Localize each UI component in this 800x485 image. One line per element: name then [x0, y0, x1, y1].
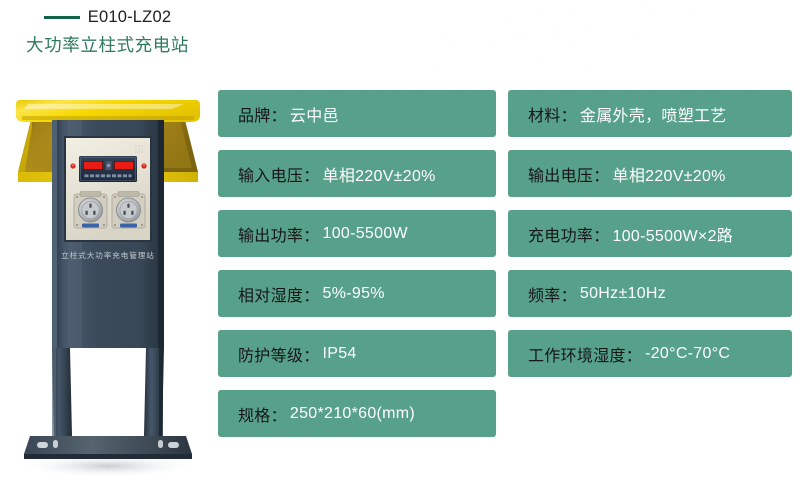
spec-grid: 品牌： 云中邑 材料： 金属外壳，喷塑工艺 输入电压： 单相220V±20% 输… — [218, 90, 792, 450]
spec-value: -20°C-70°C — [645, 345, 730, 363]
spec-value: 金属外壳，喷塑工艺 — [580, 102, 727, 126]
spec-card-output-power: 输出功率： 100-5500W — [218, 210, 496, 257]
base-plate — [24, 436, 192, 459]
spec-row: 品牌： 云中邑 材料： 金属外壳，喷塑工艺 — [218, 90, 792, 137]
spec-label: 材料： — [528, 102, 577, 126]
spec-row: 输入电压： 单相220V±20% 输出电压： 单相220V±20% — [218, 150, 792, 197]
control-panel — [64, 136, 152, 242]
spec-card-output-voltage: 输出电压： 单相220V±20% — [508, 150, 792, 197]
spec-card-operating-temperature: 工作环境湿度： -20°C-70°C — [508, 330, 792, 377]
vent-grille — [135, 145, 143, 153]
spec-value: 云中邑 — [290, 102, 339, 126]
mounting-slot — [168, 442, 179, 448]
spec-value: IP54 — [323, 345, 357, 363]
spec-value: 单相220V±20% — [323, 162, 436, 186]
charging-socket — [112, 192, 145, 229]
mounting-slot — [53, 440, 58, 448]
support-legs — [52, 348, 164, 436]
product-name: 大功率立柱式充电站 — [0, 32, 215, 57]
spec-label: 品牌： — [238, 102, 287, 126]
mounting-slot — [37, 442, 48, 448]
spec-label: 规格： — [238, 402, 287, 426]
spec-card-placeholder — [508, 390, 792, 437]
column-brand-text: 立柱式大功率充电管理站 — [61, 250, 154, 260]
spec-card-input-voltage: 输入电压： 单相220V±20% — [218, 150, 496, 197]
product-photo: 立柱式大功率充电管理站 — [2, 76, 214, 481]
spec-card-material: 材料： 金属外壳，喷塑工艺 — [508, 90, 792, 137]
spec-label: 工作环境湿度： — [528, 342, 642, 366]
spec-card-brand: 品牌： 云中邑 — [218, 90, 496, 137]
mounting-slot — [158, 440, 163, 448]
spec-card-ip-rating: 防护等级： IP54 — [218, 330, 496, 377]
spec-row: 输出功率： 100-5500W 充电功率： 100-5500W×2路 — [218, 210, 792, 257]
spec-value: 100-5500W — [323, 225, 408, 243]
spec-value: 单相220V±20% — [613, 162, 726, 186]
horizontal-dash-icon — [44, 16, 80, 19]
spec-card-charging-power: 充电功率： 100-5500W×2路 — [508, 210, 792, 257]
model-row: E010-LZ02 — [0, 6, 215, 28]
title-block: E010-LZ02 大功率立柱式充电站 — [0, 6, 215, 57]
spec-label: 相对湿度： — [238, 282, 320, 306]
spec-card-relative-humidity: 相对湿度： 5%-95% — [218, 270, 496, 317]
spec-label: 输入电压： — [238, 162, 320, 186]
spec-label: 充电功率： — [528, 222, 610, 246]
product-spec-page: E010-LZ02 大功率立柱式充电站 — [0, 0, 800, 485]
spec-value: 50Hz±10Hz — [580, 285, 666, 303]
spec-label: 防护等级： — [238, 342, 320, 366]
spec-row: 规格： 250*210*60(mm) — [218, 390, 792, 437]
spec-card-dimensions: 规格： 250*210*60(mm) — [218, 390, 496, 437]
led-display-module — [79, 156, 137, 182]
spec-label: 频率： — [528, 282, 577, 306]
model-code: E010-LZ02 — [88, 8, 171, 27]
charging-socket — [74, 192, 107, 229]
spec-label: 输出电压： — [528, 162, 610, 186]
spec-value: 100-5500W×2路 — [613, 222, 734, 246]
spec-card-frequency: 频率： 50Hz±10Hz — [508, 270, 792, 317]
spec-value: 5%-95% — [323, 285, 385, 303]
spec-row: 相对湿度： 5%-95% 频率： 50Hz±10Hz — [218, 270, 792, 317]
spec-value: 250*210*60(mm) — [290, 405, 415, 423]
spec-row: 防护等级： IP54 工作环境湿度： -20°C-70°C — [218, 330, 792, 377]
spec-label: 输出功率： — [238, 222, 320, 246]
